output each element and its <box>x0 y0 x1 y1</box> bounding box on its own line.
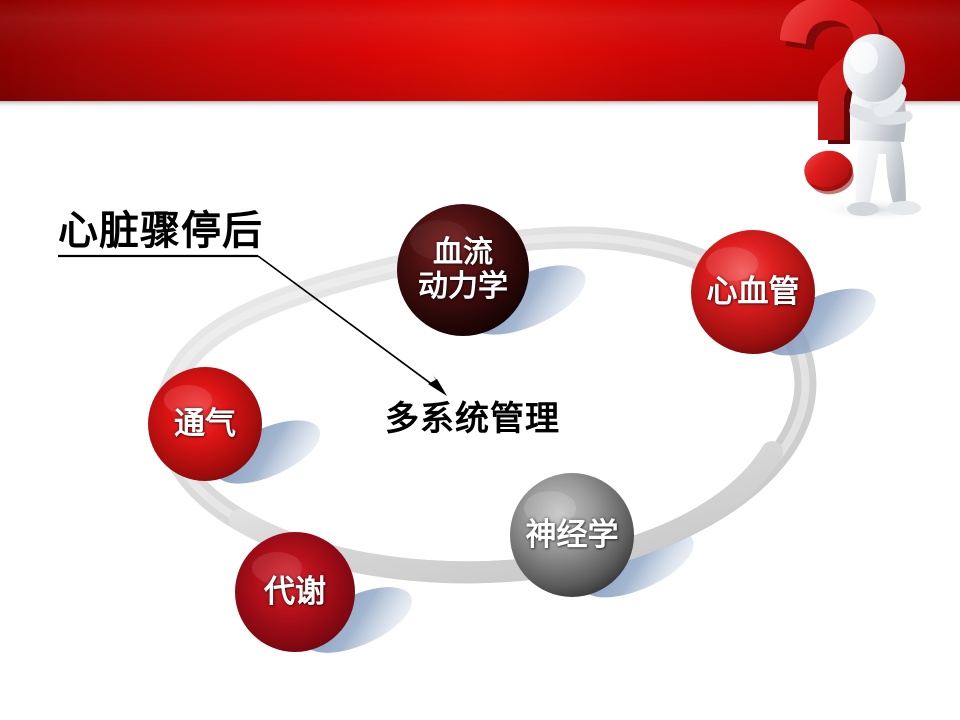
node-cardiovascular[interactable] <box>691 230 815 354</box>
slide-canvas: 心脏骤停后 多系统管理 血流 动力学 心血管 通气 代谢 神经学 <box>0 0 960 720</box>
arrow-head <box>428 379 447 396</box>
center-caption: 多系统管理 <box>385 398 560 440</box>
node-neurology[interactable] <box>510 473 634 597</box>
page-title: 心脏骤停后 <box>58 208 263 254</box>
node-ventilation[interactable] <box>148 367 262 481</box>
node-hemodynamics[interactable] <box>397 204 529 336</box>
multisystem-diagram <box>0 0 960 720</box>
node-metabolism[interactable] <box>235 532 355 652</box>
